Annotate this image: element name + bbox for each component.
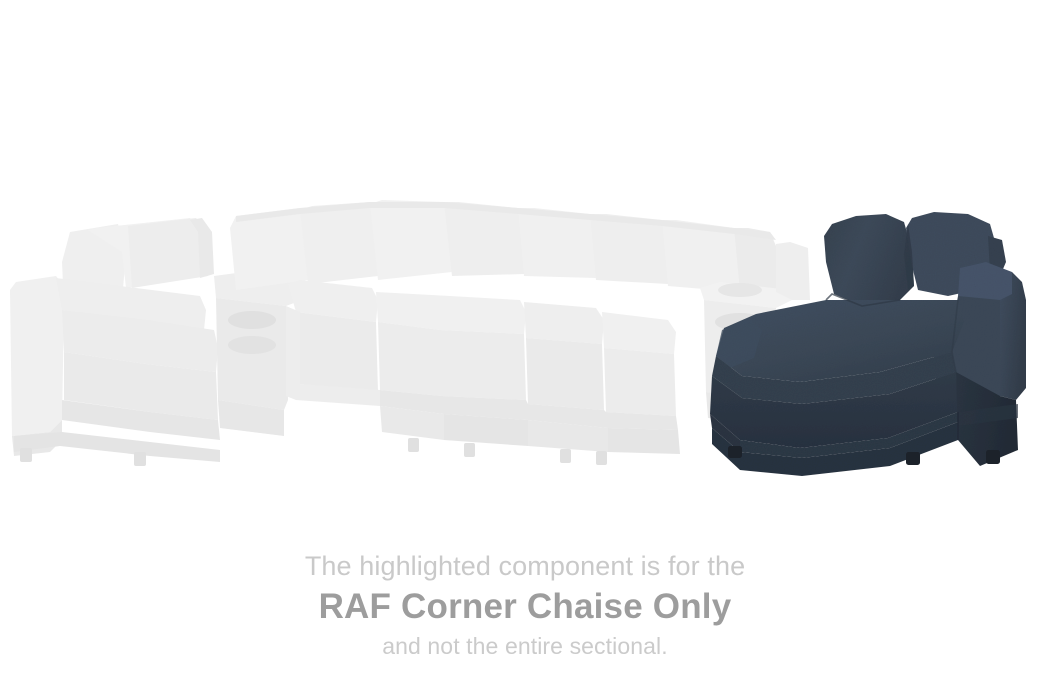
- ghost-seat-a-front: [296, 312, 378, 392]
- ghost-foot-2: [134, 452, 146, 466]
- caption-line-1: The highlighted component is for the: [0, 548, 1050, 584]
- ghost-back-cushion-7: [370, 200, 452, 280]
- ghost-foot-6: [596, 451, 607, 465]
- ghost-right-arm: [776, 242, 810, 300]
- ghost-laf-arm-outer: [10, 276, 64, 436]
- product-image-canvas: The highlighted component is for the RAF…: [0, 0, 1050, 700]
- ghost-foot-4: [464, 443, 475, 457]
- ghost-cupholder-2: [228, 336, 276, 354]
- ghost-seat-b-front: [526, 338, 604, 410]
- ghost-seat-b-top: [524, 302, 604, 344]
- chaise-foot-left: [728, 446, 742, 458]
- ghost-foot-5: [560, 449, 571, 463]
- ghost-cupholder-4: [718, 283, 762, 297]
- caption: The highlighted component is for the RAF…: [0, 548, 1050, 662]
- ghost-corner-front-base-4: [608, 428, 680, 454]
- ghost-foot-3: [408, 438, 419, 452]
- caption-line-3: and not the entire sectional.: [0, 630, 1050, 662]
- caption-line-2: RAF Corner Chaise Only: [0, 584, 1050, 630]
- ghost-seat-c-front: [604, 348, 676, 416]
- chaise-foot-right: [986, 450, 1000, 464]
- chaise-foot-center: [906, 452, 920, 465]
- ghost-corner-seat-front: [378, 322, 526, 400]
- ghost-back-cushion-6: [300, 202, 378, 284]
- chaise-back-cushion-main: [824, 214, 914, 306]
- ghost-foot-1: [20, 448, 32, 462]
- ghost-cupholder-1: [228, 311, 276, 329]
